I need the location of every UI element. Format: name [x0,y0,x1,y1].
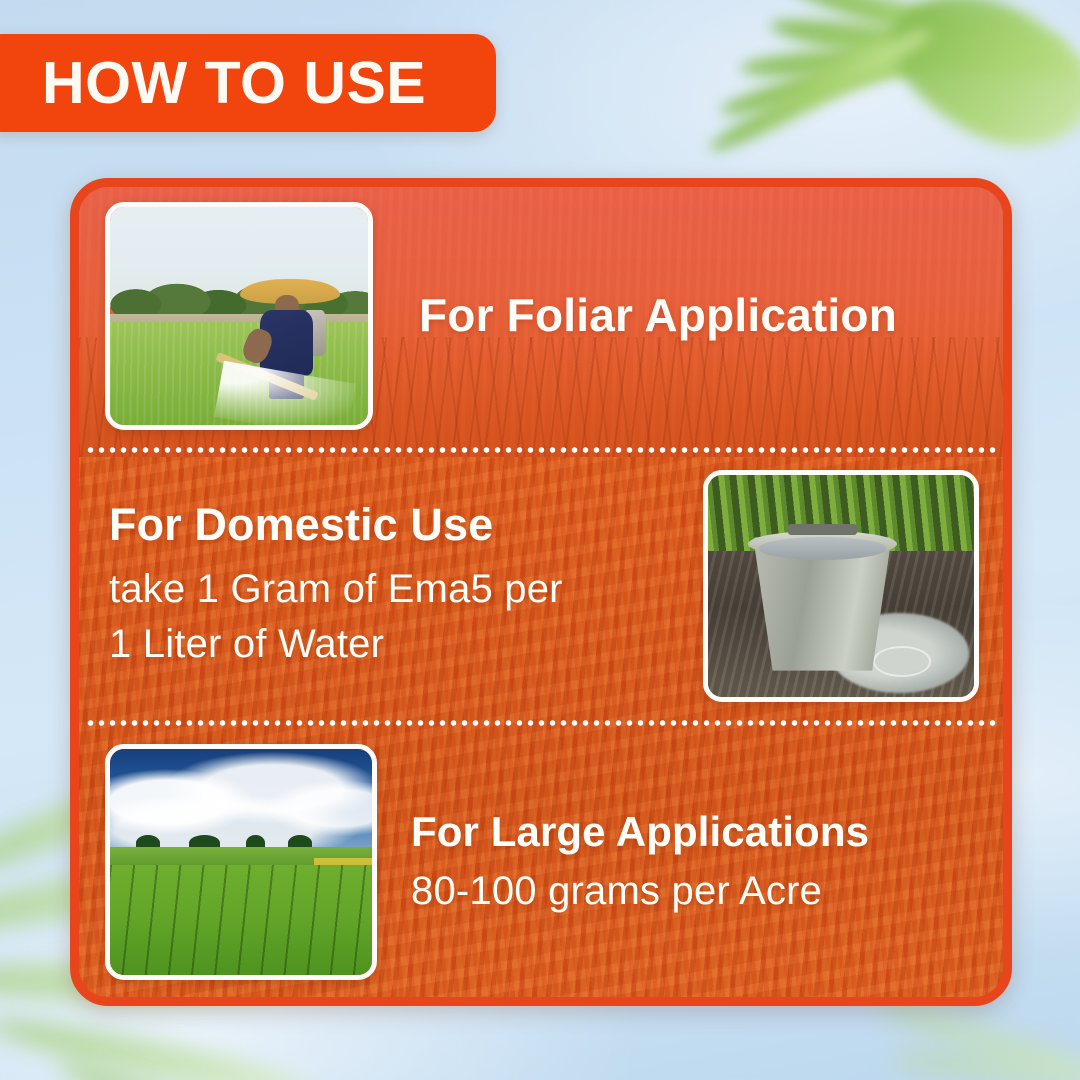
domestic-title: For Domestic Use [109,500,685,550]
photo-scene [110,749,372,975]
palm-frond-icon [704,20,937,160]
section-large-applications: For Large Applications 80-100 grams per … [79,728,1003,997]
foliar-title: For Foliar Application [373,284,943,347]
palm-frond-icon [768,8,1080,86]
large-text-block: For Large Applications 80-100 grams per … [377,808,977,918]
section-domestic-use: For Domestic Use take 1 Gram of Ema5 per… [79,455,1003,718]
how-to-use-banner: HOW TO USE [0,34,496,132]
foliar-text-block: For Foliar Application [373,284,969,347]
palm-frond-icon [786,0,1080,82]
bucket-of-water-in-field-photo [703,470,979,702]
large-title: For Large Applications [411,808,977,856]
section-divider [85,445,997,455]
large-body: 80-100 grams per Acre [411,865,977,917]
domestic-text-block: For Domestic Use take 1 Gram of Ema5 per… [109,500,703,673]
page-title: HOW TO USE [0,49,426,117]
bucket-water-surface [759,537,887,559]
how-to-use-card: For Foliar Application For Domestic Use … [70,178,1012,1006]
palm-frond-icon [868,0,1080,178]
domestic-body: take 1 Gram of Ema5 per 1 Liter of Water [109,562,685,672]
domestic-body-line-2: 1 Liter of Water [109,617,685,672]
palm-frond-icon [889,1044,1080,1080]
section-divider [85,718,997,728]
bucket-handle [788,524,857,535]
section-foliar-application: For Foliar Application [79,187,1003,445]
domestic-body-line-1: take 1 Gram of Ema5 per [109,562,685,617]
photo-scene [110,207,368,425]
crop-rows-layer [110,865,372,976]
palm-frond-icon [716,8,1032,125]
palm-frond-icon [0,1006,317,1080]
photo-scene [708,475,974,697]
green-crop-field-photo [105,744,377,980]
farmer-spraying-rice-field-photo [105,202,373,430]
palm-frond-icon [739,29,1070,84]
palm-frond-icon [54,1047,345,1080]
